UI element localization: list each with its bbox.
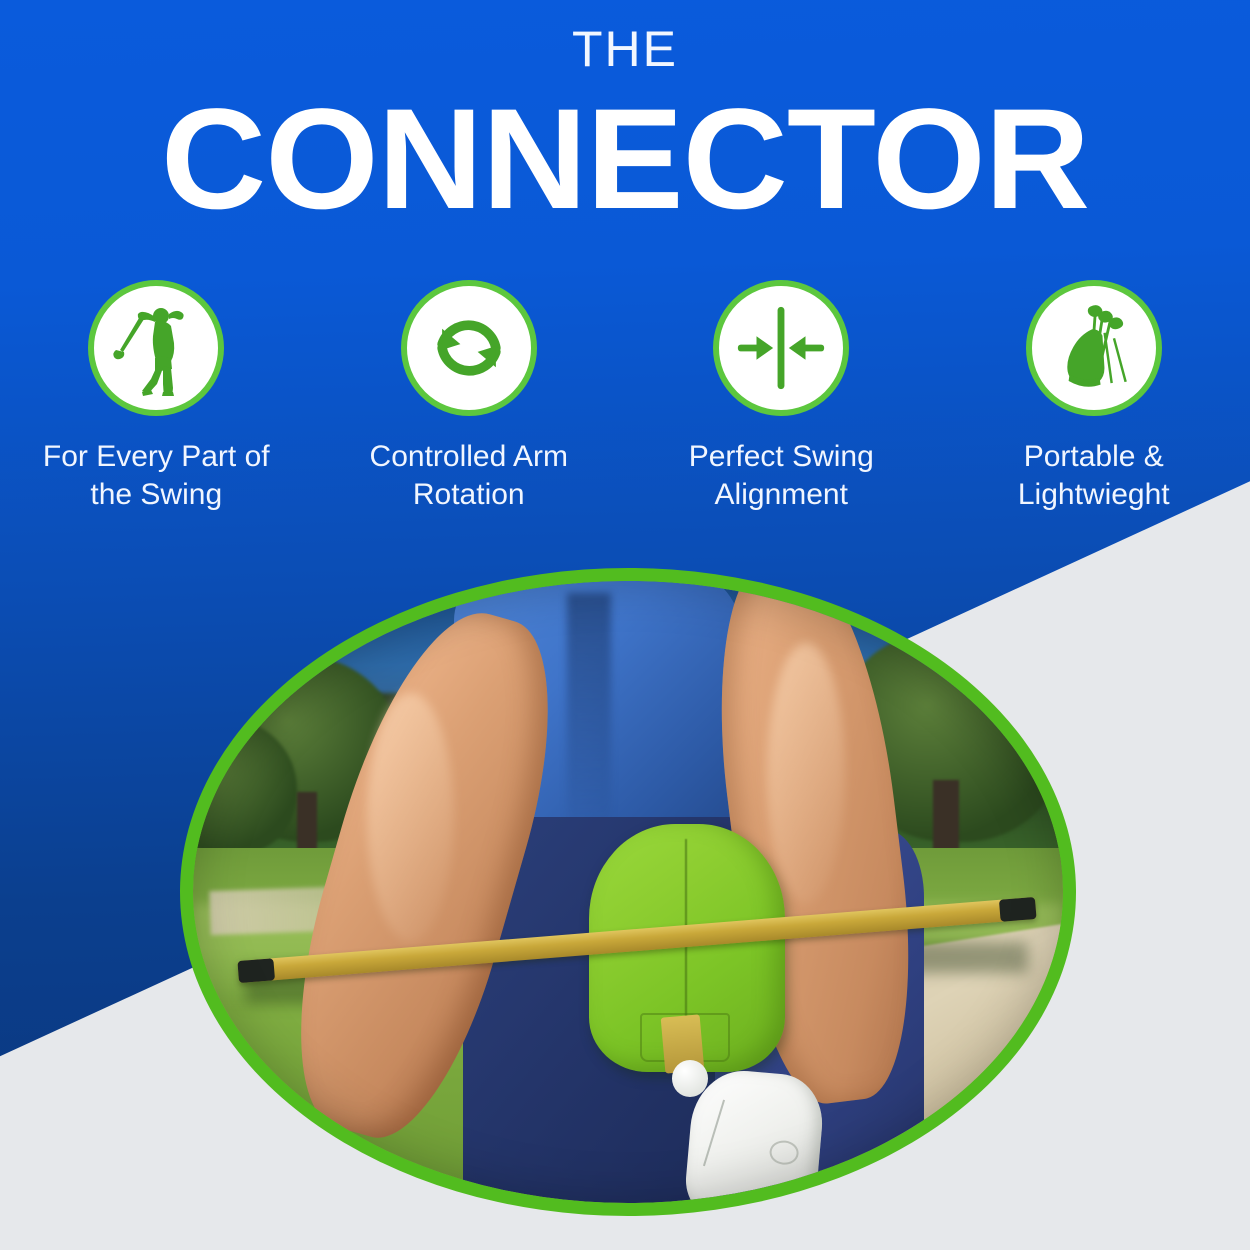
feature-label-alignment: Perfect Swing Alignment: [625, 438, 938, 513]
photo-rod-end-cap: [237, 959, 275, 984]
photo-glove-seam: [703, 1100, 725, 1166]
title-eyebrow: THE: [0, 0, 1250, 74]
page-title: CONNECTOR: [0, 88, 1250, 231]
feature-badge-alignment: [713, 280, 849, 416]
feature-badge-swing: [88, 280, 224, 416]
photo-glove-logo: [768, 1139, 799, 1165]
rotation-arrows-icon: [421, 300, 517, 396]
infographic-stage: THE CONNECTOR: [0, 0, 1250, 1250]
photo-scene: [193, 581, 1063, 1203]
feature-item-alignment: Perfect Swing Alignment: [625, 280, 938, 513]
photo-arm-highlight: [367, 693, 454, 942]
golf-bag-icon: [1047, 300, 1141, 396]
feature-label-swing: For Every Part of the Swing: [0, 438, 313, 513]
photo-rod-end-cap: [999, 897, 1037, 922]
feature-label-portable: Portable & Lightwieght: [938, 438, 1250, 513]
header: THE CONNECTOR: [0, 0, 1250, 231]
golfer-using-connector-photo: [180, 568, 1076, 1216]
photo-arm-highlight: [767, 643, 845, 904]
feature-label-rotation: Controlled Arm Rotation: [313, 438, 626, 513]
feature-item-rotation: Controlled Arm Rotation: [313, 280, 626, 513]
feature-badge-portable: [1026, 280, 1162, 416]
feature-item-swing: For Every Part of the Swing: [0, 280, 313, 513]
feature-badge-rotation: [401, 280, 537, 416]
feature-item-portable: Portable & Lightwieght: [938, 280, 1250, 513]
alignment-arrows-icon: [732, 299, 830, 397]
golfer-swing-icon: [111, 300, 201, 396]
feature-list: For Every Part of the Swing: [0, 280, 1250, 513]
photo-shirt-fold: [567, 593, 611, 842]
